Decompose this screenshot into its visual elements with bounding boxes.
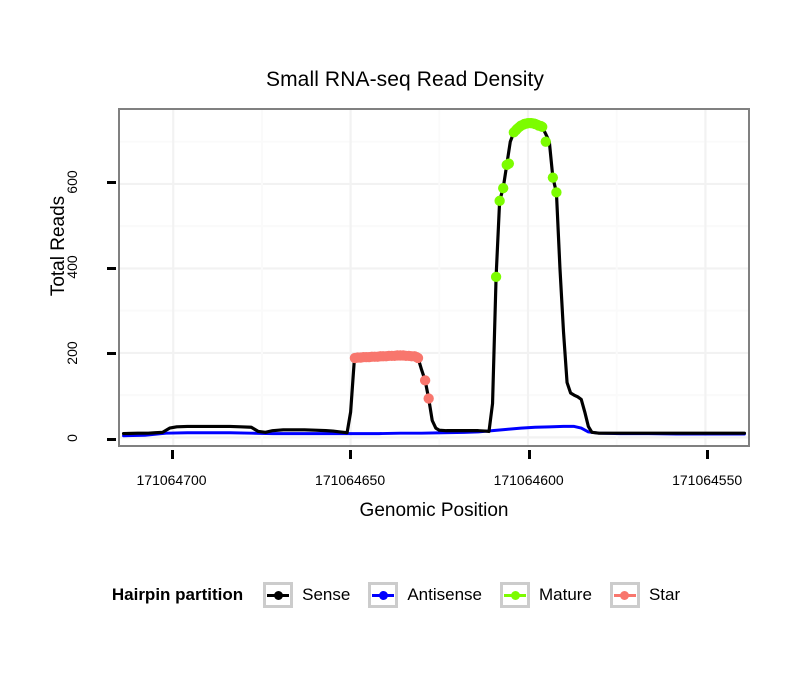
x-tick-label: 171064600 — [469, 472, 589, 488]
y-tick-label: 400 — [64, 245, 80, 289]
y-tick-mark — [107, 438, 116, 441]
legend-title: Hairpin partition — [112, 585, 243, 605]
legend-key-dot — [274, 591, 283, 600]
legend-key-swatch — [500, 582, 530, 608]
page-title: Small RNA-seq Read Density — [0, 68, 810, 92]
legend-item-sense[interactable]: Sense — [263, 582, 362, 608]
legend: Hairpin partition SenseAntisenseMatureSt… — [0, 582, 810, 608]
series-sense — [124, 123, 745, 434]
legend-items: SenseAntisenseMatureStar — [263, 582, 698, 608]
legend-key-swatch — [263, 582, 293, 608]
legend-key-dot — [379, 591, 388, 600]
legend-key-swatch — [610, 582, 640, 608]
legend-key-dot — [511, 591, 520, 600]
x-tick-label: 171064550 — [647, 472, 767, 488]
x-tick-mark — [528, 450, 531, 459]
x-tick-label: 171064650 — [290, 472, 410, 488]
gridlines — [120, 110, 748, 445]
legend-label: Star — [649, 585, 680, 605]
legend-item-star[interactable]: Star — [610, 582, 692, 608]
y-tick-label: 0 — [64, 416, 80, 460]
y-tick-mark — [107, 267, 116, 270]
legend-label: Mature — [539, 585, 592, 605]
plot-panel — [118, 108, 750, 447]
legend-item-mature[interactable]: Mature — [500, 582, 604, 608]
y-tick-mark — [107, 181, 116, 184]
y-tick-mark — [107, 352, 116, 355]
plot-area — [120, 110, 748, 445]
legend-label: Sense — [302, 585, 350, 605]
x-tick-mark — [706, 450, 709, 459]
y-tick-label: 600 — [64, 160, 80, 204]
x-tick-label: 171064700 — [112, 472, 232, 488]
legend-key-dot — [620, 591, 629, 600]
chart-page: Small RNA-seq Read Density Total Reads 0… — [0, 0, 810, 690]
plot-canvas — [120, 110, 748, 445]
legend-item-antisense[interactable]: Antisense — [368, 582, 494, 608]
y-tick-label: 200 — [64, 331, 80, 375]
legend-key-swatch — [368, 582, 398, 608]
x-tick-mark — [349, 450, 352, 459]
x-tick-mark — [171, 450, 174, 459]
x-axis-title: Genomic Position — [118, 500, 750, 522]
legend-label: Antisense — [407, 585, 482, 605]
